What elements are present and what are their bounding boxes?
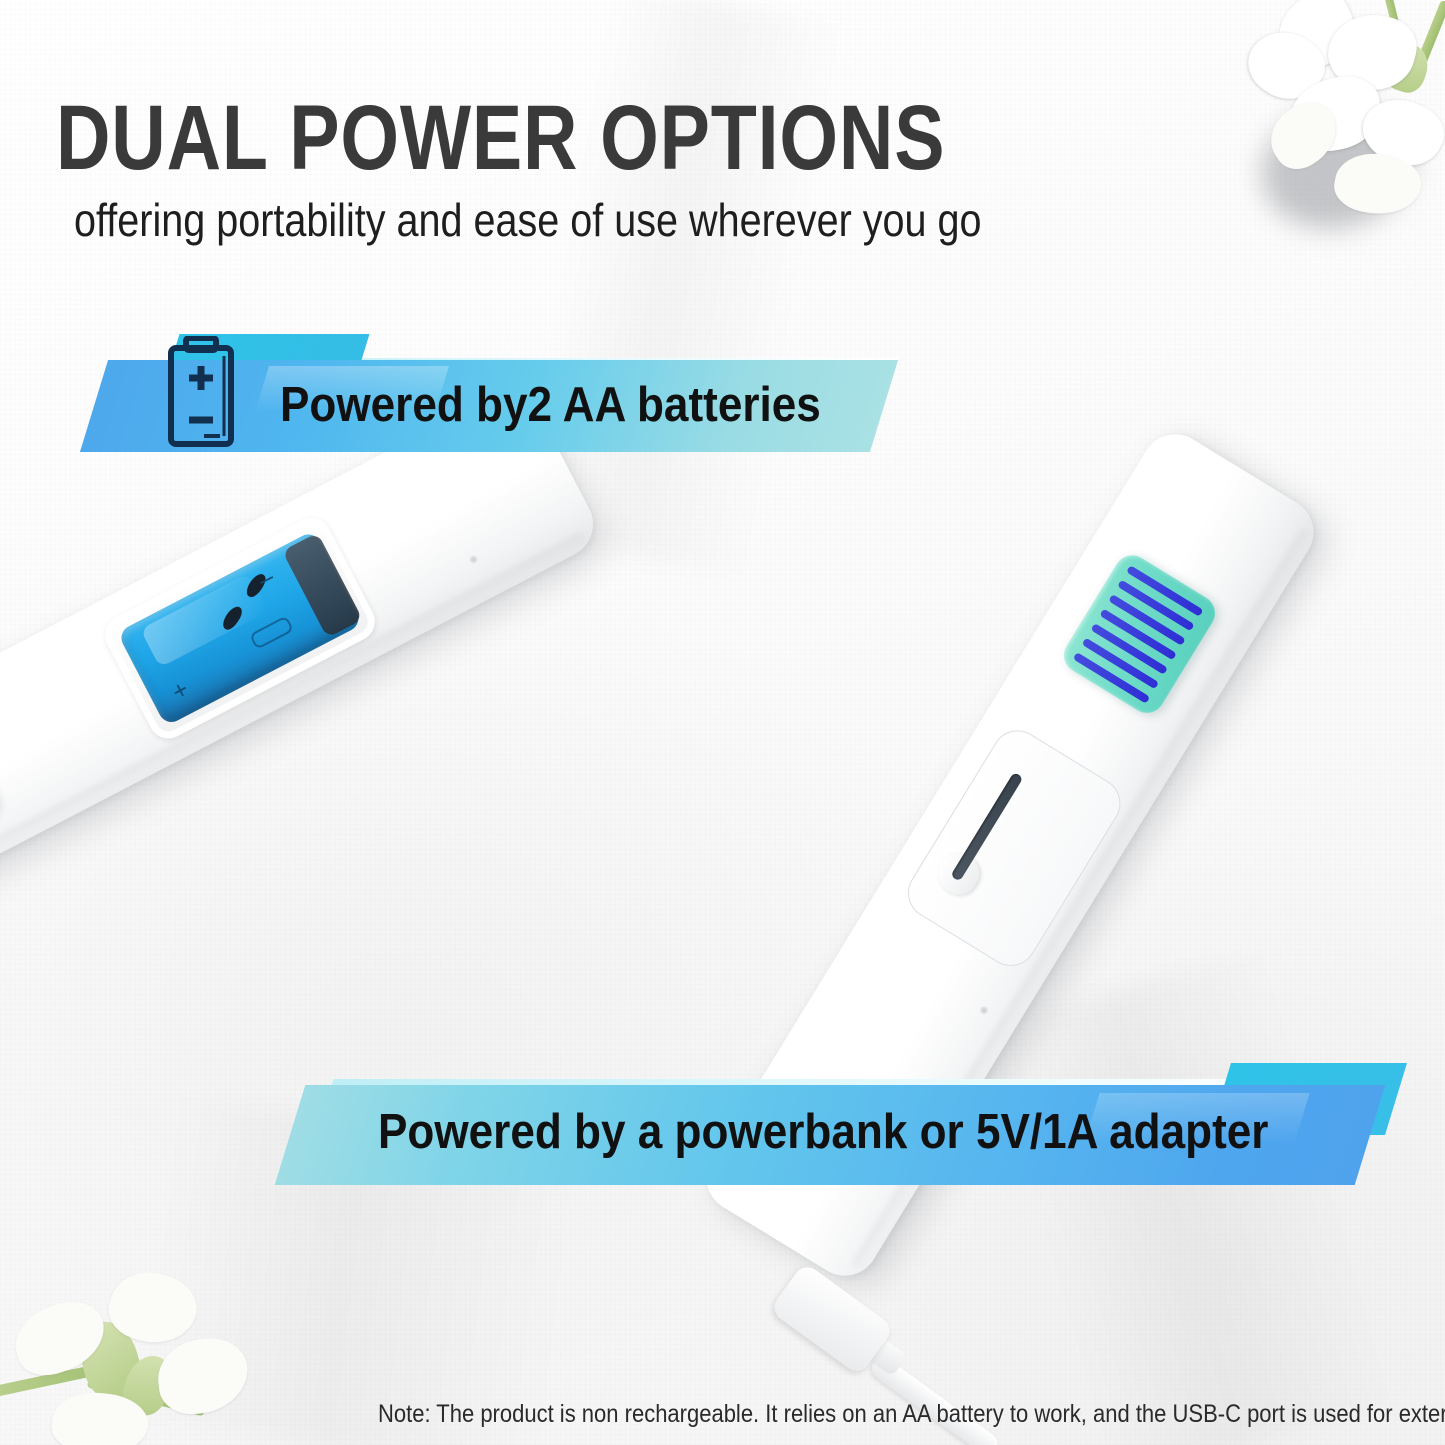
page-title: DUAL POWER OPTIONS <box>56 92 1048 184</box>
battery-icon <box>164 336 238 448</box>
footer-note: Note: The product is non rechargeable. I… <box>378 1398 1364 1430</box>
banner-label-usb: Powered by a powerbank or 5V/1A adapter <box>378 1101 1268 1163</box>
marketing-image: DUAL POWER OPTIONS offering portability … <box>0 0 1445 1445</box>
page-subtitle: offering portability and ease of use whe… <box>74 193 1158 247</box>
flower-decoration-top-right <box>1241 0 1445 248</box>
flower-decoration-bottom-left <box>0 1243 240 1445</box>
banner-label-battery: Powered by2 AA batteries <box>280 374 821 436</box>
flower-petal <box>154 1334 251 1417</box>
feature-banner-battery: Powered by2 AA batteries <box>52 318 882 458</box>
feature-banner-usb: Powered by a powerbank or 5V/1A adapter <box>272 1057 1407 1205</box>
battery-logo-mark <box>249 615 294 649</box>
battery-plus-label: + <box>170 679 191 702</box>
